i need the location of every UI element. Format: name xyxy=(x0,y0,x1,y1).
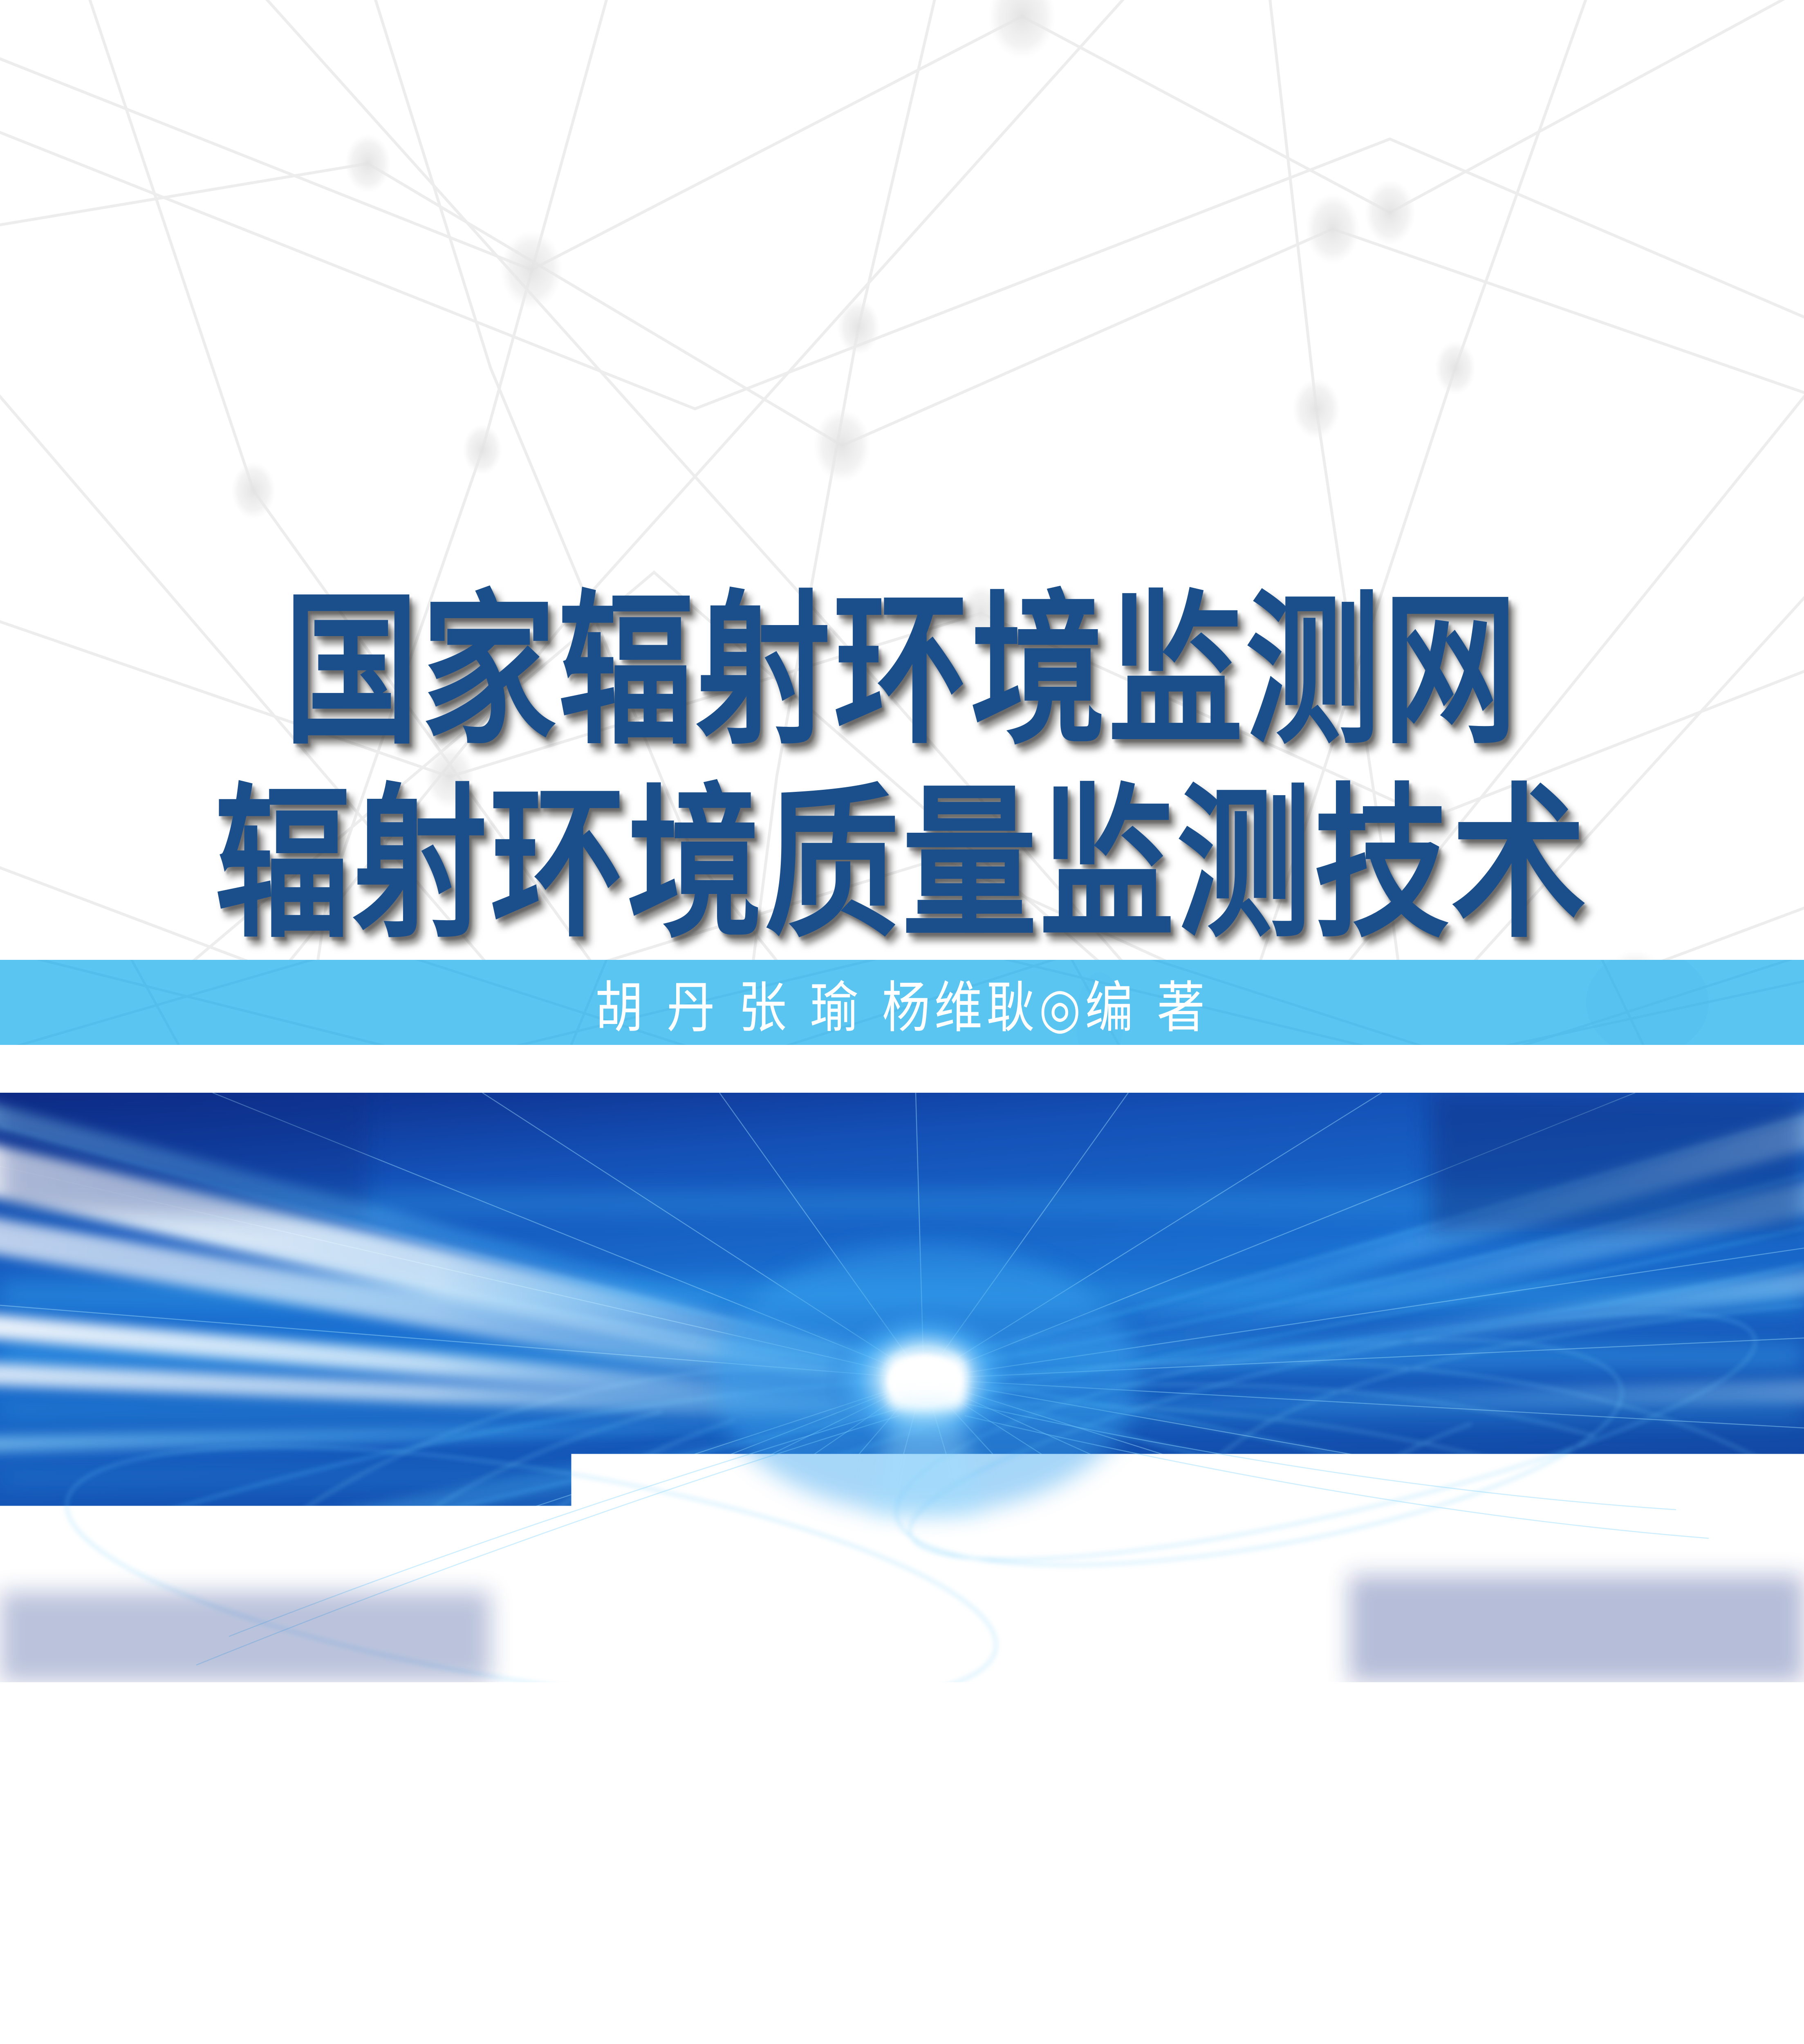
title-line-2: 辐射环境质量监测技术 xyxy=(0,762,1804,967)
author-line: 胡 丹 张 瑜 杨维耿◎编 著 xyxy=(595,962,1209,1043)
bottom-panel-network-overlay xyxy=(0,1746,1804,2044)
book-cover: 国家辐射环境监测网 辐射环境质量监测技术 胡 丹 张 瑜 杨维耿◎编 著 xyxy=(0,0,1804,2044)
title-line-1: 国家辐射环境监测网 xyxy=(0,568,1804,774)
author-band: 胡 丹 张 瑜 杨维耿◎编 著 xyxy=(0,960,1804,1045)
cover-bottom-blue-panel xyxy=(0,1746,1804,2044)
white-divider-lower xyxy=(0,1682,1804,1746)
page-title: 国家辐射环境监测网 辐射环境质量监测技术 xyxy=(0,568,1804,930)
abstract-blue-light-rays xyxy=(0,1093,1804,1682)
white-divider-upper xyxy=(0,1045,1804,1093)
